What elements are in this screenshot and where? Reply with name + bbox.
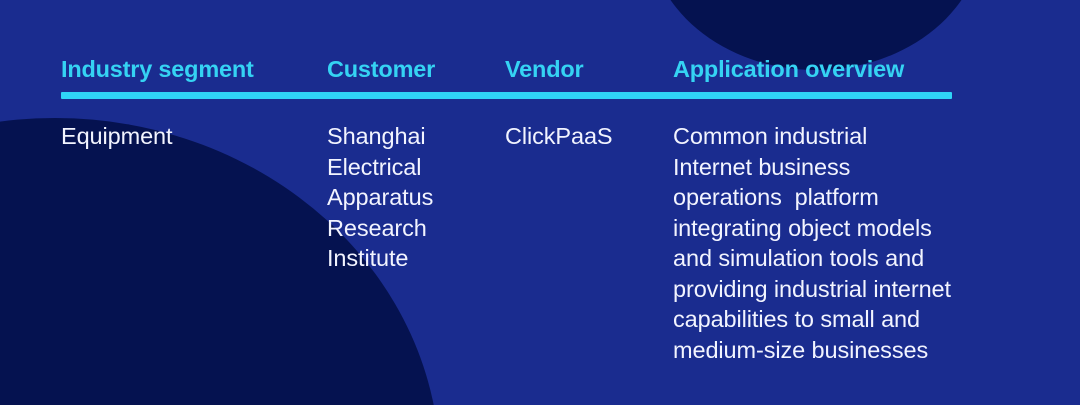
cell-customer: Shanghai Electrical Apparatus Research I…	[327, 121, 505, 274]
table-row: Equipment Shanghai Electrical Apparatus …	[61, 121, 952, 365]
column-header-customer: Customer	[327, 56, 505, 83]
cell-application-overview: Common industrial Internet business oper…	[673, 121, 952, 365]
header-underline-rule	[61, 92, 952, 99]
column-header-vendor: Vendor	[505, 56, 673, 83]
cell-industry-segment: Equipment	[61, 121, 327, 152]
slide-canvas: Industry segment Customer Vendor Applica…	[0, 0, 1080, 405]
table-header-row: Industry segment Customer Vendor Applica…	[61, 56, 952, 83]
column-header-application-overview: Application overview	[673, 56, 952, 83]
comparison-table: Industry segment Customer Vendor Applica…	[61, 56, 952, 365]
cell-vendor: ClickPaaS	[505, 121, 673, 152]
column-header-industry-segment: Industry segment	[61, 56, 327, 83]
